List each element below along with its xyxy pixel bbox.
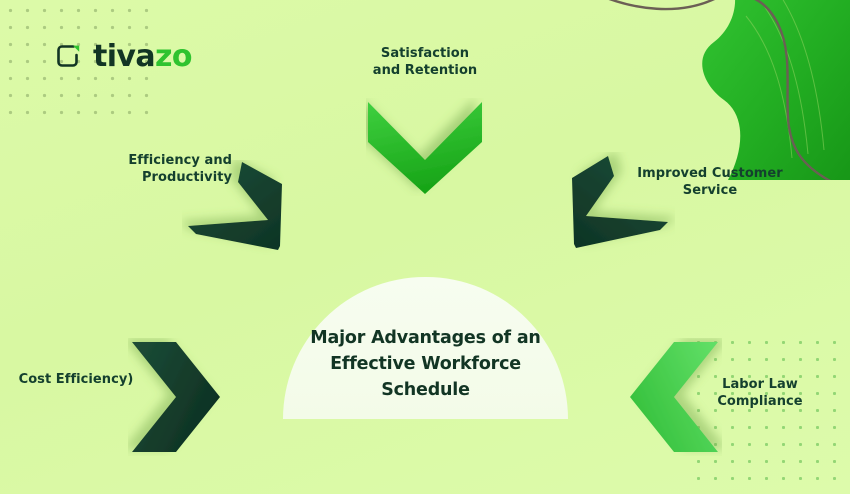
node-label-cost-efficiency: Cost Efficiency) (6, 371, 146, 388)
chevron-down-shape (368, 102, 482, 194)
blob-vein-lines (746, 0, 824, 158)
node-label-cost-efficiency-line1: Cost Efficiency) (6, 371, 146, 388)
node-label-efficiency: Efficiency and Productivity (72, 152, 232, 186)
chevron-down-icon (366, 98, 484, 196)
center-dome-panel: Major Advantages of an Effective Workfor… (283, 277, 568, 419)
node-label-satisfaction-line1: Satisfaction (345, 45, 505, 62)
node-label-customer-service: Improved Customer Service (620, 165, 800, 199)
page-title: Major Advantages of an Effective Workfor… (306, 326, 546, 403)
node-label-labor-law-line2: Compliance (690, 393, 830, 410)
node-label-customer-service-line2: Service (620, 182, 800, 199)
brand-name-accent: zo (155, 39, 192, 74)
node-label-labor-law-line1: Labor Law (690, 376, 830, 393)
node-label-satisfaction: Satisfaction and Retention (345, 45, 505, 79)
blob-shape (702, 0, 850, 180)
curved-line-decoration (596, 0, 832, 180)
brand-name-primary: tiva (93, 39, 155, 74)
node-label-efficiency-line1: Efficiency and (72, 152, 232, 169)
dot-grid-bottom-right-decoration (690, 334, 850, 494)
brand-logo[interactable]: tivazo (54, 42, 192, 72)
brand-wordmark: tivazo (93, 42, 192, 72)
node-label-labor-law: Labor Law Compliance (690, 376, 830, 410)
node-label-satisfaction-line2: and Retention (345, 62, 505, 79)
node-label-customer-service-line1: Improved Customer (620, 165, 800, 182)
chevron-right-shape (132, 342, 220, 452)
node-label-efficiency-line2: Productivity (72, 169, 232, 186)
chevron-right-icon (128, 338, 224, 456)
bracket-square-icon (54, 42, 84, 72)
organic-leaf-blob-decoration (596, 0, 850, 180)
infographic-canvas: tivazo (0, 0, 850, 494)
